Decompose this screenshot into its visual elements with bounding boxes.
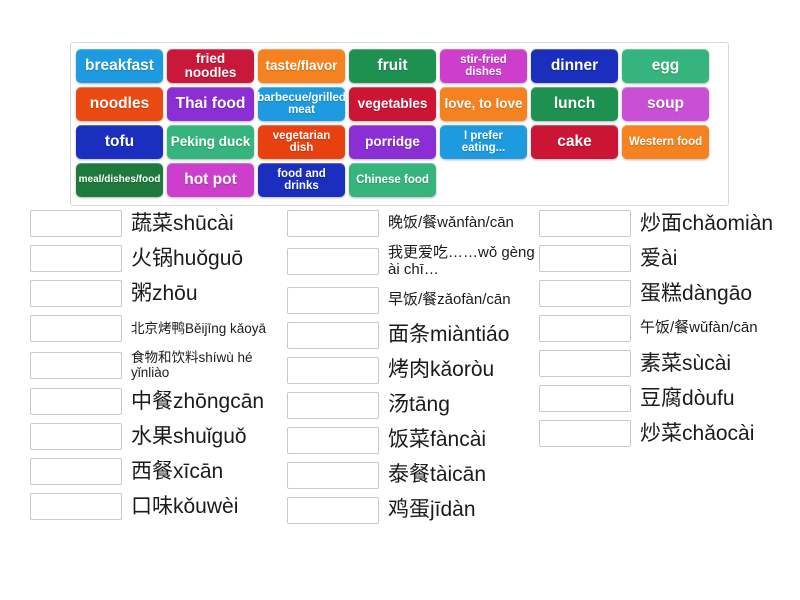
drop-slot[interactable]	[287, 392, 379, 419]
answer-row: 午饭/餐wǔfàn/cān	[539, 315, 800, 342]
drop-slot[interactable]	[539, 420, 631, 447]
drop-slot[interactable]	[287, 287, 379, 314]
word-tile[interactable]: dinner	[531, 49, 618, 83]
answer-prompt-text: 我更爱吃……wǒ gèng ài chī…	[388, 245, 539, 279]
word-tile-grid: breakfastfried noodlestaste/flavorfruits…	[76, 49, 723, 197]
drop-slot[interactable]	[287, 462, 379, 489]
answer-row: 汤tāng	[287, 392, 539, 419]
answer-row: 蔬菜shūcài	[30, 210, 284, 237]
word-tile[interactable]: hot pot	[167, 163, 254, 197]
answer-row: 鸡蛋jīdàn	[287, 497, 539, 524]
answer-row: 面条miàntiáo	[287, 322, 539, 349]
word-tile[interactable]: food and drinks	[258, 163, 345, 197]
answer-row: 中餐zhōngcān	[30, 388, 284, 415]
drop-slot[interactable]	[287, 248, 379, 275]
word-tile[interactable]: stir-fried dishes	[440, 49, 527, 83]
answer-prompt-text: 口味kǒuwèi	[131, 495, 284, 519]
answer-row: 晚饭/餐wǎnfàn/cān	[287, 210, 539, 237]
drop-slot[interactable]	[287, 497, 379, 524]
word-tile[interactable]: soup	[622, 87, 709, 121]
answer-prompt-text: 鸡蛋jīdàn	[388, 498, 539, 522]
word-tile[interactable]: Western food	[622, 125, 709, 159]
drop-slot[interactable]	[30, 352, 122, 379]
answer-prompt-text: 午饭/餐wǔfàn/cān	[640, 320, 800, 337]
answer-row: 饭菜fàncài	[287, 427, 539, 454]
word-tile[interactable]: egg	[622, 49, 709, 83]
word-tile[interactable]: tofu	[76, 125, 163, 159]
answer-prompt-text: 早饭/餐zǎofàn/cān	[388, 292, 539, 309]
answer-prompt-text: 烤肉kǎoròu	[388, 358, 539, 382]
answer-prompt-text: 蔬菜shūcài	[131, 212, 284, 236]
drop-slot[interactable]	[30, 280, 122, 307]
answer-row: 北京烤鸭Běijīng kǎoyā	[30, 315, 284, 342]
answer-row: 素菜sùcài	[539, 350, 800, 377]
word-tile[interactable]: fruit	[349, 49, 436, 83]
word-tile[interactable]: meal/dishes/food	[76, 163, 163, 197]
drop-slot[interactable]	[30, 458, 122, 485]
answer-row: 水果shuǐguǒ	[30, 423, 284, 450]
drop-slot[interactable]	[287, 322, 379, 349]
drop-slot[interactable]	[30, 315, 122, 342]
word-tile[interactable]: vegetarian dish	[258, 125, 345, 159]
drop-slot[interactable]	[287, 210, 379, 237]
answer-column-1: 蔬菜shūcài火锅huǒguō粥zhōu北京烤鸭Běijīng kǎoyā食物…	[0, 210, 284, 550]
answer-row: 早饭/餐zǎofàn/cān	[287, 287, 539, 314]
answer-row: 炒菜chǎocài	[539, 420, 800, 447]
answer-row: 口味kǒuwèi	[30, 493, 284, 520]
drop-slot[interactable]	[30, 423, 122, 450]
word-tile[interactable]: breakfast	[76, 49, 163, 83]
answer-row: 炒面chǎomiàn	[539, 210, 800, 237]
answer-prompt-text: 晚饭/餐wǎnfàn/cān	[388, 215, 539, 232]
word-tile[interactable]: Chinese food	[349, 163, 436, 197]
word-tile-bank: breakfastfried noodlestaste/flavorfruits…	[70, 42, 729, 206]
answer-row: 食物和饮料shíwù hé yǐnliào	[30, 350, 284, 380]
answer-row: 泰餐tàicān	[287, 462, 539, 489]
answer-row: 粥zhōu	[30, 280, 284, 307]
answer-prompt-text: 中餐zhōngcān	[131, 390, 284, 414]
drop-slot[interactable]	[287, 357, 379, 384]
drop-slot[interactable]	[539, 210, 631, 237]
answer-prompt-text: 泰餐tàicān	[388, 463, 539, 487]
answer-prompt-text: 面条miàntiáo	[388, 323, 539, 347]
answer-row: 烤肉kǎoròu	[287, 357, 539, 384]
answer-prompt-text: 豆腐dòufu	[640, 387, 800, 411]
word-tile[interactable]: love, to love	[440, 87, 527, 121]
answer-prompt-text: 饭菜fàncài	[388, 428, 539, 452]
word-tile[interactable]: Peking duck	[167, 125, 254, 159]
drop-slot[interactable]	[539, 350, 631, 377]
drop-slot[interactable]	[539, 315, 631, 342]
answer-row: 火锅huǒguō	[30, 245, 284, 272]
drop-slot[interactable]	[30, 245, 122, 272]
answer-prompt-text: 粥zhōu	[131, 282, 284, 306]
word-tile[interactable]: I prefer eating...	[440, 125, 527, 159]
answer-column-3: 炒面chǎomiàn爱ài蛋糕dàngāo午饭/餐wǔfàn/cān素菜sùcà…	[539, 210, 800, 550]
drop-slot[interactable]	[539, 280, 631, 307]
drop-slot[interactable]	[30, 210, 122, 237]
drop-slot[interactable]	[539, 385, 631, 412]
word-tile[interactable]: cake	[531, 125, 618, 159]
answer-prompt-text: 素菜sùcài	[640, 352, 800, 376]
word-tile[interactable]: barbecue/grilled meat	[258, 87, 345, 121]
answer-prompt-text: 炒菜chǎocài	[640, 422, 800, 446]
answer-prompt-text: 西餐xīcān	[131, 460, 284, 484]
answer-row: 西餐xīcān	[30, 458, 284, 485]
answer-prompt-text: 食物和饮料shíwù hé yǐnliào	[131, 350, 284, 380]
answer-column-2: 晚饭/餐wǎnfàn/cān我更爱吃……wǒ gèng ài chī…早饭/餐z…	[284, 210, 539, 550]
word-tile[interactable]: lunch	[531, 87, 618, 121]
answer-prompt-text: 火锅huǒguō	[131, 247, 284, 271]
answer-prompt-text: 炒面chǎomiàn	[640, 212, 800, 236]
answer-prompt-text: 爱ài	[640, 247, 800, 271]
word-tile[interactable]: porridge	[349, 125, 436, 159]
answer-prompt-text: 汤tāng	[388, 393, 539, 417]
answer-prompt-text: 北京烤鸭Běijīng kǎoyā	[131, 321, 284, 336]
answer-row: 我更爱吃……wǒ gèng ài chī…	[287, 245, 539, 279]
answer-prompt-text: 蛋糕dàngāo	[640, 282, 800, 306]
drop-slot[interactable]	[30, 388, 122, 415]
word-tile[interactable]: fried noodles	[167, 49, 254, 83]
drop-slot[interactable]	[30, 493, 122, 520]
answer-row: 豆腐dòufu	[539, 385, 800, 412]
answer-row: 蛋糕dàngāo	[539, 280, 800, 307]
answer-prompt-text: 水果shuǐguǒ	[131, 425, 284, 449]
word-tile[interactable]: vegetables	[349, 87, 436, 121]
drop-slot[interactable]	[287, 427, 379, 454]
word-tile[interactable]: taste/flavor	[258, 49, 345, 83]
answer-area: 蔬菜shūcài火锅huǒguō粥zhōu北京烤鸭Běijīng kǎoyā食物…	[0, 210, 800, 550]
word-tile[interactable]: Thai food	[167, 87, 254, 121]
word-tile[interactable]: noodles	[76, 87, 163, 121]
drop-slot[interactable]	[539, 245, 631, 272]
answer-row: 爱ài	[539, 245, 800, 272]
